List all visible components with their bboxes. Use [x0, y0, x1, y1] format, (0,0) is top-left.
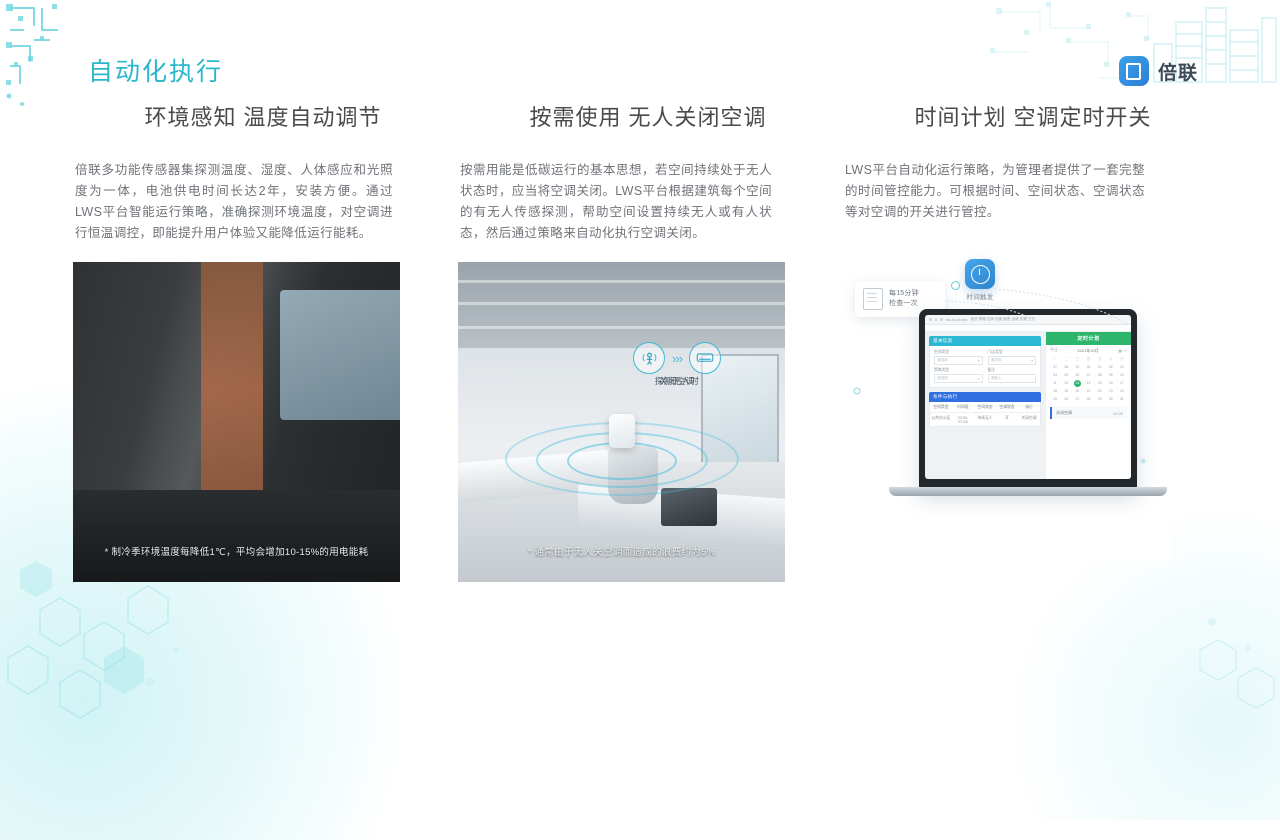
schedule-panel-title: 定时计划: [1077, 335, 1099, 342]
browser-dot: [940, 318, 943, 321]
cell: 关闭空调: [1018, 413, 1040, 426]
feature-column-3: 时间计划 空调定时开关 LWS平台自动化运行策略，为管理者提供了一套完整的时间管…: [843, 100, 1223, 582]
column-1-title: 环境感知 温度自动调节: [73, 100, 453, 132]
form-field-space-type[interactable]: 空间类型 请选择▾: [934, 350, 983, 365]
field-label: 门店类型: [988, 350, 1037, 355]
feature-column-2: 按需使用 无人关闭空调 按需用能是低碳运行的基本思想，若空间持续处于无人状态时，…: [458, 100, 838, 582]
col-header: 空间状态: [974, 402, 996, 413]
feature-column-1: 环境感知 温度自动调节 倍联多功能传感器集探测温度、湿度、人体感应和光照度为一体…: [73, 100, 453, 582]
detection-flow: 探测无人时 ››› 关闭空调: [633, 342, 721, 374]
calendar-day[interactable]: 15: [1095, 380, 1105, 387]
select-space-type[interactable]: 请选择▾: [934, 356, 983, 365]
calendar-day[interactable]: 08: [1095, 372, 1105, 379]
ceiling-beam: [458, 280, 785, 283]
browser-dot: [929, 318, 932, 321]
form-field-remark[interactable]: 备注 请输入: [988, 368, 1037, 383]
calendar-day[interactable]: 31: [1117, 396, 1127, 403]
cell: 22:00-07:00: [952, 413, 974, 426]
browser-chrome[interactable]: lws.bl-iot.com 首页 策略 空间 设备 报表 运维 告警 日志: [925, 315, 1131, 325]
calendar-day[interactable]: 26: [1061, 396, 1071, 403]
col-header: 空间类型: [930, 402, 952, 413]
calendar-day[interactable]: 03: [1117, 364, 1127, 371]
basic-info-panel-header: 基本信息: [929, 336, 1041, 346]
corner-skyline-top-right-icon: [980, 0, 1280, 110]
calendar-today-button[interactable]: 今日: [1050, 348, 1058, 353]
field-placeholder: 请选择: [937, 376, 948, 381]
cell: 开: [996, 413, 1018, 426]
calendar-toolbar: 今日 2021年10月 ▦ ＋: [1046, 345, 1131, 356]
exec-table: 空间类型 时间段 空间状态 空调状态 执行 公共办公区 22:00-07:00: [929, 402, 1041, 427]
air-conditioner-label: 关闭空调: [659, 375, 695, 387]
browser-dot: [935, 318, 938, 321]
exec-panel-title: 条件与执行: [933, 394, 957, 400]
laptop-mockup: lws.bl-iot.com 首页 策略 空间 设备 报表 运维 告警 日志 基…: [919, 309, 1137, 489]
basic-info-panel-title: 基本信息: [933, 338, 953, 344]
calendar-day[interactable]: 23: [1106, 388, 1116, 395]
select-strategy-type[interactable]: 请选择▾: [934, 374, 983, 383]
decor-circle: [951, 281, 960, 290]
dow-label: 五: [1095, 356, 1105, 363]
column-2-photo: 探测无人时 ››› 关闭空调 * 通常由于无人关空调而造成的浪费约为5%: [458, 262, 785, 582]
cell: 公共办公区: [930, 413, 952, 426]
calendar-day[interactable]: 11: [1050, 380, 1060, 387]
calendar-day[interactable]: 18: [1050, 388, 1060, 395]
calendar-day[interactable]: 30: [1083, 364, 1093, 371]
calendar-day[interactable]: 20: [1072, 388, 1082, 395]
chevron-down-icon: ▾: [978, 377, 980, 381]
schedule-item-name: 关闭空调: [1056, 410, 1072, 416]
plus-icon[interactable]: ＋: [1123, 349, 1127, 353]
field-label: 备注: [988, 368, 1037, 373]
calendar-day[interactable]: 24: [1117, 388, 1127, 395]
field-label: 空间类型: [934, 350, 983, 355]
calendar-day[interactable]: 05: [1061, 372, 1071, 379]
schedule-panel: 定时计划 今日 2021年10月 ▦ ＋ 一: [1045, 332, 1131, 479]
calendar-day[interactable]: 29: [1095, 396, 1105, 403]
calendar-day[interactable]: 27: [1072, 396, 1082, 403]
calendar-day[interactable]: 09: [1106, 372, 1116, 379]
calendar-day[interactable]: 07: [1083, 372, 1093, 379]
grid-view-icon[interactable]: ▦: [1119, 349, 1123, 353]
laptop-screen: lws.bl-iot.com 首页 策略 空间 设备 报表 运维 告警 日志 基…: [925, 315, 1131, 479]
calendar-day[interactable]: 01: [1095, 364, 1105, 371]
calendar-day[interactable]: 21: [1083, 388, 1093, 395]
interval-note-text: 每15分钟 检查一次: [889, 289, 919, 309]
dow-label: 四: [1083, 356, 1093, 363]
dow-label: 六: [1106, 356, 1116, 363]
calendar-day-selected[interactable]: 13: [1074, 380, 1081, 387]
calendar-day[interactable]: 19: [1061, 388, 1071, 395]
interval-note-line2: 检查一次: [889, 299, 919, 309]
alarm-clock-label: 时间触发: [959, 291, 1001, 301]
calendar-day[interactable]: 28: [1061, 364, 1071, 371]
calendar-day[interactable]: 27: [1050, 364, 1060, 371]
ceiling-beam: [458, 302, 785, 305]
laptop-base: [889, 487, 1167, 496]
calendar-month-label[interactable]: 2021年10月: [1077, 348, 1098, 354]
dow-label: 一: [1050, 356, 1060, 363]
table-header-row: 空间类型 时间段 空间状态 空调状态 执行: [930, 402, 1040, 413]
motion-sensor-icon: 探测无人时: [633, 342, 665, 374]
schedule-panel-header: 定时计划: [1046, 332, 1131, 345]
ceiling: [458, 262, 785, 348]
schedule-item-time: 22:00: [1113, 411, 1123, 416]
brand-mark-icon: [1119, 56, 1149, 86]
calendar-day[interactable]: 29: [1072, 364, 1082, 371]
form-field-store-type[interactable]: 门店类型 请选择▾: [988, 350, 1037, 365]
calendar-day[interactable]: 10: [1117, 372, 1127, 379]
col-header: 时间段: [952, 402, 974, 413]
calendar-day[interactable]: 04: [1050, 372, 1060, 379]
browser-url[interactable]: lws.bl-iot.com: [946, 318, 968, 322]
ceiling-occupancy-sensor: [609, 414, 635, 448]
calendar-day[interactable]: 30: [1106, 396, 1116, 403]
column-1-photo: ✻ 光照 ╎ 温度 ◊ 湿度 人 人体感应: [73, 262, 400, 582]
column-1-body: 倍联多功能传感器集探测温度、湿度、人体感应和光照度为一体，电池供电时间长达2年，…: [75, 160, 393, 244]
calendar-day[interactable]: 22: [1095, 388, 1105, 395]
feature-columns: 环境感知 温度自动调节 倍联多功能传感器集探测温度、湿度、人体感应和光照度为一体…: [0, 100, 1280, 582]
exec-panel-header: 条件与执行: [929, 392, 1041, 402]
brand-name: 倍联: [1158, 58, 1198, 85]
calendar-day[interactable]: 14: [1083, 380, 1093, 387]
col-header: 空调状态: [996, 402, 1018, 413]
calendar-day[interactable]: 12: [1061, 380, 1071, 387]
ceiling-beam: [458, 326, 785, 329]
schedule-doc-icon: [863, 288, 883, 310]
calendar-day[interactable]: 25: [1050, 396, 1060, 403]
calendar-day[interactable]: 16: [1106, 380, 1116, 387]
air-conditioner-icon: 关闭空调: [689, 342, 721, 374]
field-placeholder: 请选择: [937, 358, 948, 363]
select-store-type[interactable]: 请选择▾: [988, 356, 1037, 365]
laptop-on-desk: [661, 488, 717, 526]
input-remark[interactable]: 请输入: [988, 374, 1037, 383]
column-2-title: 按需使用 无人关闭空调: [458, 100, 838, 132]
chevron-down-icon: ▾: [1031, 359, 1033, 363]
alarm-clock-icon: [965, 259, 995, 289]
dow-label: 日: [1117, 356, 1127, 363]
calendar-grid: 一 二 三 四 五 六 日 27 28 29 30: [1046, 356, 1131, 403]
brand-logo: 倍联: [1119, 56, 1198, 86]
signal-wave-icon: ›››: [672, 352, 682, 365]
page-title: 自动化执行: [88, 52, 223, 88]
table-row[interactable]: 公共办公区 22:00-07:00 持续无人 开 关闭空调: [930, 413, 1040, 426]
app-left-pane: 基本信息 空间类型 请选择▾ 门店类型 请选择▾: [925, 332, 1045, 479]
app-body: 基本信息 空间类型 请选择▾ 门店类型 请选择▾: [925, 332, 1131, 479]
column-1-caption: * 制冷季环境温度每降低1℃，平均会增加10-15%的用电能耗: [73, 544, 400, 558]
dow-label: 二: [1061, 356, 1071, 363]
form-field-strategy-type[interactable]: 策略类型 请选择▾: [934, 368, 983, 383]
interval-note-line1: 每15分钟: [889, 289, 919, 299]
column-3-body: LWS平台自动化运行策略，为管理者提供了一套完整的时间管控能力。可根据时间、空间…: [845, 160, 1145, 223]
calendar-day[interactable]: 28: [1083, 396, 1093, 403]
monitor-shape: [280, 290, 400, 420]
field-placeholder: 请输入: [991, 376, 1002, 381]
column-2-body: 按需用能是低碳运行的基本思想，若空间持续处于无人状态时，应当将空调关闭。LWS平…: [460, 160, 772, 244]
column-2-caption: * 通常由于无人关空调而造成的浪费约为5%: [458, 544, 785, 558]
chevron-down-icon: ▾: [978, 359, 980, 363]
dow-label: 三: [1072, 356, 1082, 363]
calendar-day[interactable]: 17: [1117, 380, 1127, 387]
browser-tabs[interactable]: 首页 策略 空间 设备 报表 运维 告警 日志: [971, 317, 1036, 322]
column-3-title: 时间计划 空调定时开关: [843, 100, 1223, 132]
cell: 持续无人: [974, 413, 996, 426]
app-top-bar: [925, 325, 1131, 332]
column-3-illustration: 每15分钟 检查一次 时间触发 lws.bl-iot.com 首页 策略 空间 …: [843, 241, 1170, 561]
col-header: 执行: [1018, 402, 1040, 413]
desk-surface: [73, 490, 400, 582]
field-label: 策略类型: [934, 368, 983, 373]
calendar-day[interactable]: 02: [1106, 364, 1116, 371]
calendar-day[interactable]: 06: [1072, 372, 1082, 379]
schedule-item[interactable]: 关闭空调 22:00: [1050, 407, 1127, 419]
basic-info-form: 空间类型 请选择▾ 门店类型 请选择▾ 策略类型 请选择▾: [929, 346, 1041, 388]
calendar-actions[interactable]: ▦ ＋: [1119, 348, 1127, 354]
field-placeholder: 请选择: [991, 358, 1002, 363]
